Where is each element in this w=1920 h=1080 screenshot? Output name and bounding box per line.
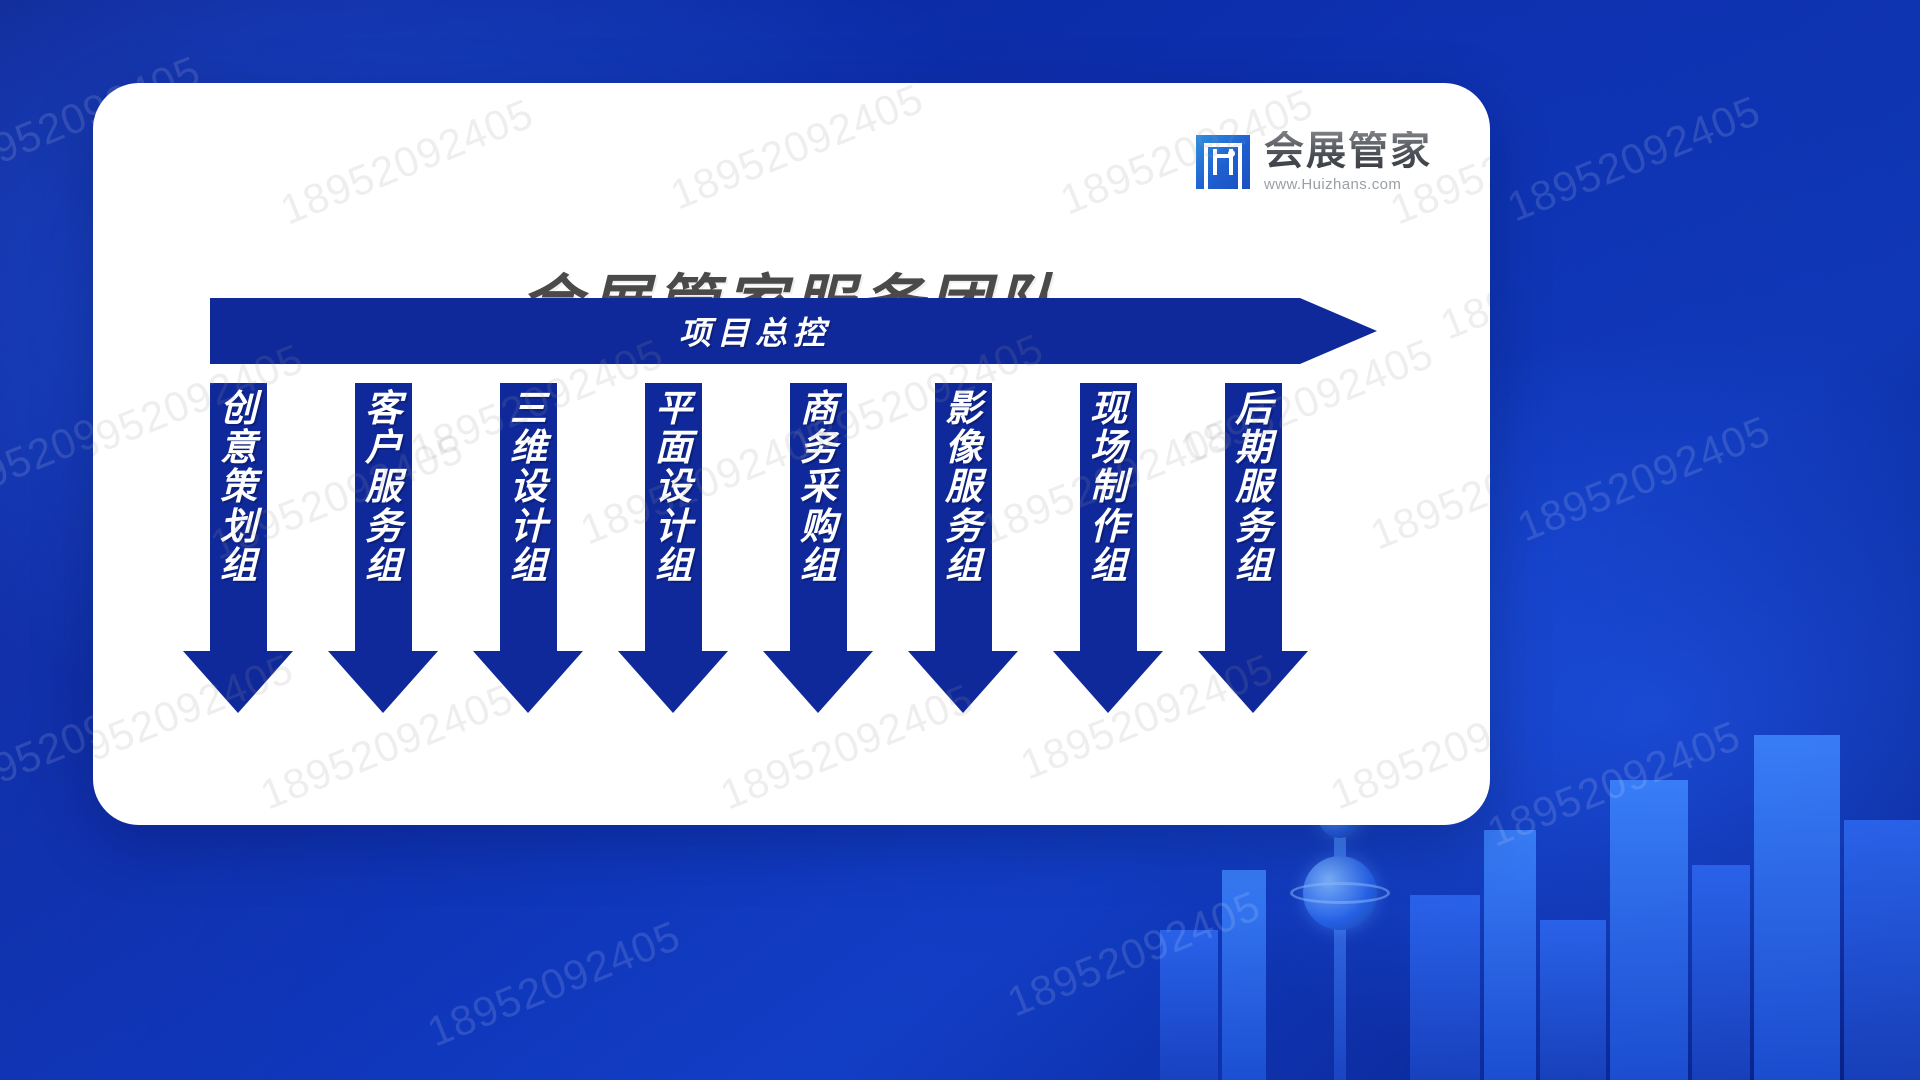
brand-logo-text: 会展管家 www.Huizhans.com [1264, 131, 1432, 193]
team-arrow-post-service[interactable]: 后 期 服 务 组 [1225, 383, 1282, 713]
team-label-onsite-production: 现 场 制 作 组 [1080, 389, 1137, 585]
top-banner-arrowhead-icon [1300, 298, 1377, 364]
arrow-down-icon [473, 651, 583, 713]
label-char: 作 [1090, 507, 1127, 546]
watermark: 18952092405 [664, 83, 930, 219]
label-char: 务 [800, 428, 837, 467]
top-banner: 项目总控 [210, 298, 1377, 364]
team-arrow-video-service[interactable]: 影 像 服 务 组 [935, 383, 992, 713]
content-card: 会展管家 www.Huizhans.com 会展管家服务团队 项目总控 创 意 … [93, 83, 1490, 825]
label-char: 组 [800, 546, 837, 585]
top-banner-label: 项目总控 [210, 298, 1300, 364]
team-label-customer-service: 客 户 服 务 组 [355, 389, 412, 585]
label-char: 后 [1235, 389, 1272, 428]
label-char: 三 [510, 389, 547, 428]
arrow-down-icon [328, 651, 438, 713]
team-arrow-row: 创 意 策 划 组 客 户 服 务 组 三 维 设 [210, 383, 1390, 713]
label-char: 组 [655, 546, 692, 585]
label-char: 服 [365, 467, 402, 506]
arrow-down-icon [1053, 651, 1163, 713]
label-char: 组 [510, 546, 547, 585]
label-char: 策 [220, 467, 257, 506]
label-char: 服 [945, 467, 982, 506]
label-char: 像 [945, 428, 982, 467]
label-char: 设 [510, 467, 547, 506]
team-label-post-service: 后 期 服 务 组 [1225, 389, 1282, 585]
label-char: 意 [220, 428, 257, 467]
label-char: 务 [365, 507, 402, 546]
team-label-business-procurement: 商 务 采 购 组 [790, 389, 847, 585]
team-label-video-service: 影 像 服 务 组 [935, 389, 992, 585]
label-char: 务 [945, 507, 982, 546]
label-char: 组 [1090, 546, 1127, 585]
team-arrow-business-procurement[interactable]: 商 务 采 购 组 [790, 383, 847, 713]
huizhan-logo-icon [1196, 135, 1250, 189]
arrow-down-icon [183, 651, 293, 713]
arrow-down-icon [763, 651, 873, 713]
label-char: 户 [365, 428, 402, 467]
label-char: 面 [655, 428, 692, 467]
label-char: 组 [365, 546, 402, 585]
label-char: 场 [1090, 428, 1127, 467]
team-arrow-graphic-design[interactable]: 平 面 设 计 组 [645, 383, 702, 713]
label-char: 维 [510, 428, 547, 467]
team-arrow-customer-service[interactable]: 客 户 服 务 组 [355, 383, 412, 713]
team-label-graphic-design: 平 面 设 计 组 [645, 389, 702, 585]
watermark: 18952092405 [274, 90, 540, 235]
label-char: 务 [1235, 507, 1272, 546]
team-arrow-3d-design[interactable]: 三 维 设 计 组 [500, 383, 557, 713]
label-char: 平 [655, 389, 692, 428]
label-char: 商 [800, 389, 837, 428]
team-arrow-creative-planning[interactable]: 创 意 策 划 组 [210, 383, 267, 713]
label-char: 组 [1235, 546, 1272, 585]
label-char: 计 [510, 507, 547, 546]
label-char: 计 [655, 507, 692, 546]
brand-url: www.Huizhans.com [1264, 176, 1401, 193]
team-arrow-onsite-production[interactable]: 现 场 制 作 组 [1080, 383, 1137, 713]
label-char: 划 [220, 507, 257, 546]
brand-logo[interactable]: 会展管家 www.Huizhans.com [1196, 131, 1432, 193]
brand-name: 会展管家 [1264, 131, 1432, 171]
label-char: 设 [655, 467, 692, 506]
arrow-down-icon [618, 651, 728, 713]
label-char: 服 [1235, 467, 1272, 506]
label-char: 组 [220, 546, 257, 585]
label-char: 制 [1090, 467, 1127, 506]
label-char: 购 [800, 507, 837, 546]
team-label-creative-planning: 创 意 策 划 组 [210, 389, 267, 585]
label-char: 客 [365, 389, 402, 428]
arrow-down-icon [908, 651, 1018, 713]
label-char: 期 [1235, 428, 1272, 467]
label-char: 创 [220, 389, 257, 428]
label-char: 采 [800, 467, 837, 506]
label-char: 影 [945, 389, 982, 428]
label-char: 现 [1090, 389, 1127, 428]
label-char: 组 [945, 546, 982, 585]
arrow-down-icon [1198, 651, 1308, 713]
team-label-3d-design: 三 维 设 计 组 [500, 389, 557, 585]
